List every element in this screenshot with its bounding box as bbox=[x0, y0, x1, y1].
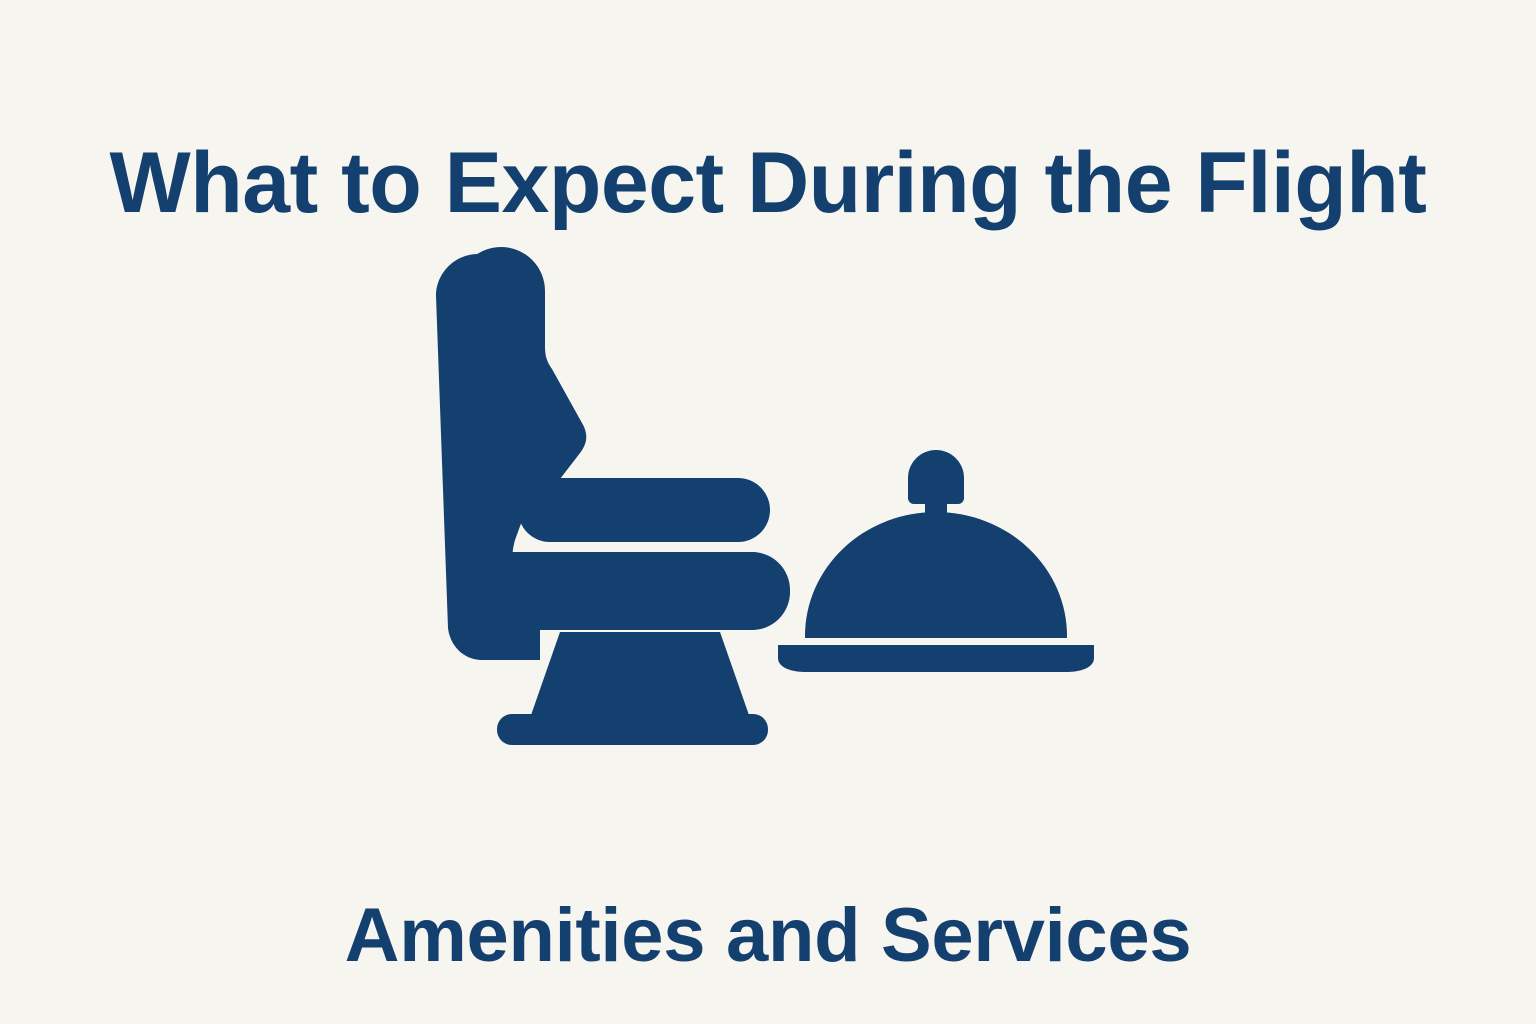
slide-root: What to Expect During the Flight bbox=[0, 0, 1536, 1024]
airline-seat-icon bbox=[433, 247, 790, 745]
food-cloche-icon bbox=[778, 450, 1094, 672]
cloche-dome bbox=[805, 512, 1067, 638]
icon-illustration-group bbox=[420, 240, 1140, 770]
seat-base bbox=[497, 714, 768, 745]
seat-cushion bbox=[490, 552, 790, 630]
cloche-tray bbox=[778, 645, 1094, 672]
seat-armrest bbox=[518, 478, 770, 542]
page-title: What to Expect During the Flight bbox=[0, 140, 1536, 226]
page-subtitle: Amenities and Services bbox=[0, 898, 1536, 974]
seat-pedestal bbox=[530, 632, 750, 718]
